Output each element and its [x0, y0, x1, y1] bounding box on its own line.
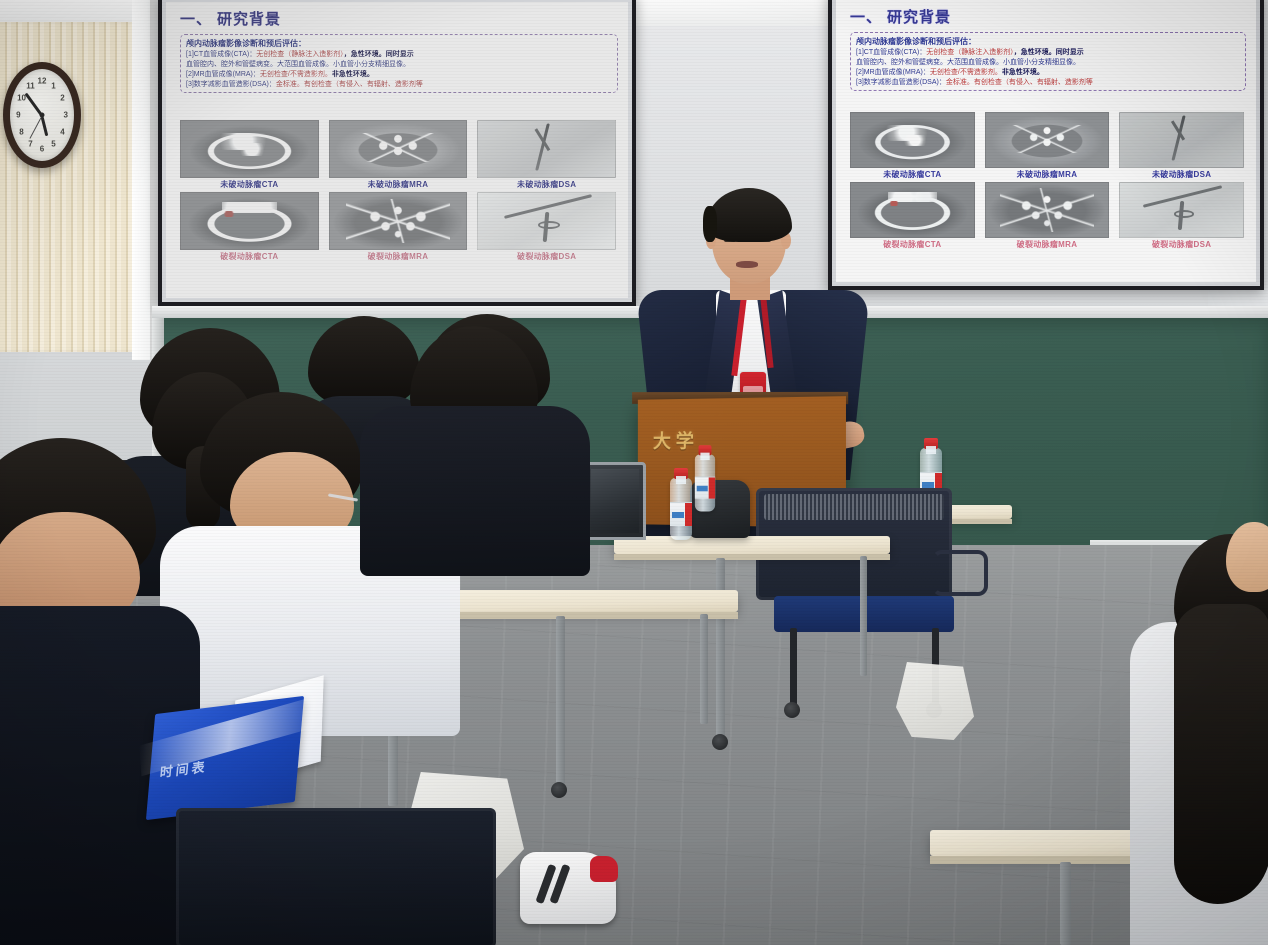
slide-line-1-tail: 血管腔内、腔外和管壁病变。大范围血管成像。小血管小分支精细显像。: [186, 59, 612, 69]
desk-caster: [551, 782, 567, 798]
chair-center-right: [756, 488, 988, 688]
aneurysm-marker: [1174, 210, 1194, 218]
slide-text-box-left: 颅内动脉瘤影像诊断和预后评估： [1]CT血管成像(CTA)：无创检查（静脉注入…: [180, 34, 618, 93]
program-booklet[interactable]: 时间表: [146, 696, 304, 820]
slide-line-1: [1]CT血管成像(CTA)：无创检查（静脉注入造影剂），急性环境。同时显示: [186, 49, 612, 59]
bottle-neck: [700, 453, 709, 460]
clock-face: 12 1 2 3 4 5 6 7 8 9 10 11: [10, 69, 74, 161]
clock-second-hand: [29, 115, 42, 139]
caption-cta-unruptured: 未破动脉瘤CTA: [220, 179, 278, 190]
bottle-neck: [926, 446, 936, 454]
slide-box-heading-right: 颅内动脉瘤影像诊断和预后评估：: [856, 36, 1240, 47]
medical-image-mra-unruptured: [329, 120, 468, 178]
slide-left: 一、研究背景 颅内动脉瘤影像诊断和预后评估： [1]CT血管成像(CTA)：无创…: [166, 2, 628, 298]
clock-numeral: 11: [26, 81, 34, 90]
projection-screen-right: 一、研究背景 颅内动脉瘤影像诊断和预后评估： [1]CT血管成像(CTA)：无创…: [828, 0, 1264, 290]
hair: [706, 188, 792, 242]
caption-mra-unruptured: 未破动脉瘤MRA: [368, 179, 429, 190]
medical-image-cta-ruptured: [180, 192, 319, 250]
medical-image-mra-ruptured: [985, 182, 1110, 238]
slide-right: 一、研究背景 颅内动脉瘤影像诊断和预后评估： [1]CT血管成像(CTA)：无创…: [836, 0, 1256, 282]
wall-clock: 12 1 2 3 4 5 6 7 8 9 10 11: [3, 62, 81, 168]
attendee-right-long-hair: [1122, 544, 1268, 945]
sneaker: [520, 852, 616, 924]
bottle-label: [670, 502, 692, 526]
sneaker-heel-tab: [590, 856, 618, 882]
slide-title-left: 一、研究背景: [180, 8, 618, 29]
medical-image-dsa-unruptured: [477, 120, 616, 178]
slide-cell: 未破动脉瘤DSA: [477, 120, 616, 190]
chair-armrest: [932, 550, 988, 596]
chair-foreground-left: [176, 808, 496, 945]
bottle-label: [695, 477, 715, 499]
clock-numeral: 3: [63, 111, 67, 120]
slide-cell: 未破动脉瘤CTA: [850, 112, 975, 180]
desk-edge: [452, 612, 738, 619]
slide-line-3: [3]数字减影血管造影(DSA)：金标准。有创检查（有侵入、有辐射、造影剂等: [186, 79, 612, 89]
slide-cell: 破裂动脉瘤MRA: [985, 182, 1110, 250]
clock-numeral: 5: [51, 140, 55, 149]
slide-title-bullet: 一、: [180, 11, 212, 28]
chair-mesh-panel: [764, 494, 944, 520]
desk-leg: [556, 616, 565, 786]
classroom-photo: 12 1 2 3 4 5 6 7 8 9 10 11 一、研究背景: [0, 0, 1268, 945]
laptop-screen: [584, 462, 646, 540]
clock-numeral: 4: [60, 127, 64, 136]
slide-cell: 破裂动脉瘤DSA: [1119, 182, 1244, 250]
clock-numeral: 12: [38, 76, 47, 85]
slide-line-2-right: [2]MR血管成像(MRA)：无创检查/不需造影剂。非急性环境。: [856, 67, 1240, 77]
desk-leg: [860, 556, 867, 676]
slide-cell: 未破动脉瘤MRA: [329, 120, 468, 190]
slide-title-text: 研究背景: [217, 11, 281, 28]
desk-caster: [712, 734, 728, 750]
slide-box-heading: 颅内动脉瘤影像诊断和预后评估：: [186, 38, 612, 49]
slide-cell: 未破动脉瘤CTA: [180, 120, 319, 190]
medical-image-mra-unruptured: [985, 112, 1110, 168]
plastic-bag: [896, 662, 974, 740]
laptop[interactable]: [584, 462, 646, 540]
slide-cell: 破裂动脉瘤CTA: [180, 192, 319, 262]
clock-numeral: 6: [40, 145, 44, 154]
chair-caster: [784, 702, 800, 718]
medical-image-cta-unruptured: [850, 112, 975, 168]
slide-title-right: 一、研究背景: [850, 6, 1246, 27]
slide-cell: 未破动脉瘤DSA: [1119, 112, 1244, 180]
desk-middle: [614, 536, 890, 554]
caption-dsa-ruptured: 破裂动脉瘤DSA: [517, 251, 576, 262]
podium-engraved-text: 大学: [653, 425, 831, 453]
desk-edge: [614, 554, 890, 560]
medical-image-dsa-ruptured: [1119, 182, 1244, 238]
screen-bezel-left: 一、研究背景 颅内动脉瘤影像诊断和预后评估： [1]CT血管成像(CTA)：无创…: [162, 0, 632, 302]
desk-leg: [1060, 862, 1071, 945]
aneurysm-marker: [538, 221, 560, 229]
torso: [360, 406, 590, 576]
slide-cell: 破裂动脉瘤MRA: [329, 192, 468, 262]
slide-line-1-right: [1]CT血管成像(CTA)：无创检查（静脉注入造影剂），急性环境。同时显示: [856, 47, 1240, 57]
desk-leg: [700, 614, 708, 724]
long-hair-strands: [1174, 604, 1268, 904]
chair-leg: [790, 628, 797, 708]
medical-image-mra-ruptured: [329, 192, 468, 250]
caption-dsa-unruptured: 未破动脉瘤DSA: [517, 179, 576, 190]
attendee-center-dark: [300, 372, 530, 572]
clock-numeral: 9: [16, 111, 20, 120]
slide-line-3-right: [3]数字减影血管造影(DSA)：金标准。有创检查（有侵入、有辐射、造影剂等: [856, 77, 1240, 87]
medical-image-cta-unruptured: [180, 120, 319, 178]
slide-line-2: [2]MR血管成像(MRA)：无创检查/不需造影剂。非急性环境。: [186, 69, 612, 79]
clock-numeral: 7: [28, 140, 32, 149]
slide-text-box-right: 颅内动脉瘤影像诊断和预后评估： [1]CT血管成像(CTA)：无创检查（静脉注入…: [850, 32, 1246, 91]
screen-bezel-right: 一、研究背景 颅内动脉瘤影像诊断和预后评估： [1]CT血管成像(CTA)：无创…: [832, 0, 1260, 286]
desk-mid-left: [452, 590, 738, 612]
slide-line-1-tail-right: 血管腔内、腔外和管壁病变。大范围血管成像。小血管小分支精细显像。: [856, 57, 1240, 67]
slide-cell: 破裂动脉瘤DSA: [477, 192, 616, 262]
caption-mra-ruptured: 破裂动脉瘤MRA: [368, 251, 429, 262]
water-bottle: [670, 478, 692, 540]
slide-cell: 未破动脉瘤MRA: [985, 112, 1110, 180]
clock-center-pin: [40, 113, 45, 118]
bottle-neck: [676, 476, 686, 484]
clock-hour-hand: [41, 116, 49, 136]
medical-image-dsa-ruptured: [477, 192, 616, 250]
clock-numeral: 1: [51, 81, 55, 90]
desk-leg: [716, 558, 725, 738]
clock-numeral: 8: [19, 127, 23, 136]
clock-numeral: 2: [60, 94, 64, 103]
mouth: [736, 261, 758, 268]
projection-screen-left: 一、研究背景 颅内动脉瘤影像诊断和预后评估： [1]CT血管成像(CTA)：无创…: [158, 0, 636, 306]
caption-cta-ruptured: 破裂动脉瘤CTA: [220, 251, 278, 262]
medical-image-dsa-unruptured: [1119, 112, 1244, 168]
water-bottle: [695, 454, 715, 511]
